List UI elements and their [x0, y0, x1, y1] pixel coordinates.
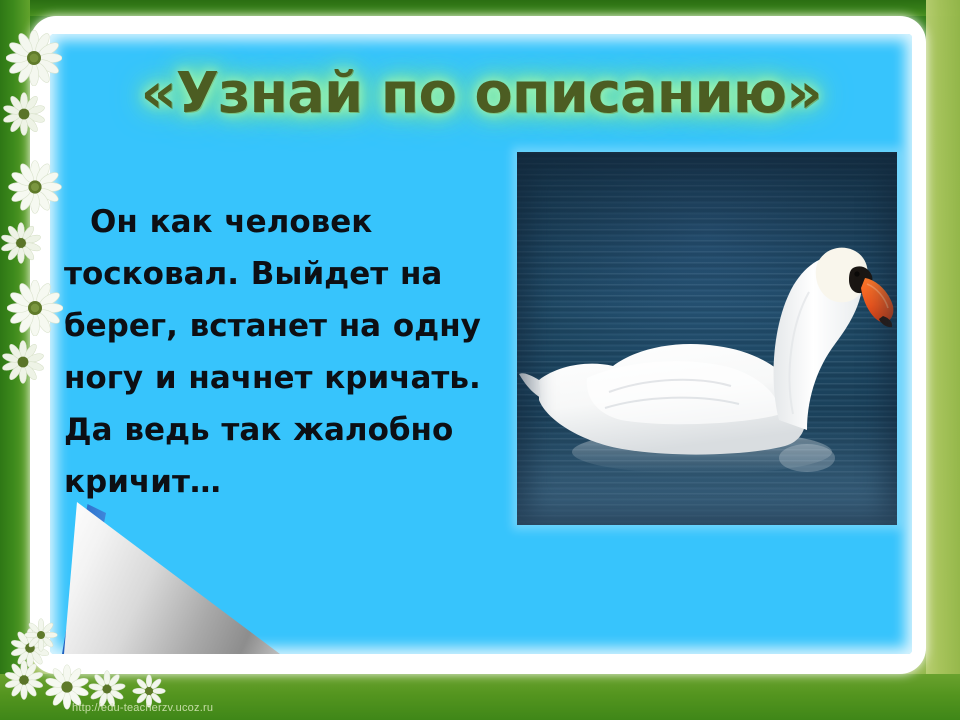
daisy-flower-icon [8, 160, 62, 214]
daisy-flower-icon [0, 222, 42, 264]
daisy-flower-icon [4, 660, 44, 700]
footer-source-url[interactable]: http://edu-teacherzv.ucoz.ru [72, 702, 213, 714]
daisy-flower-icon [7, 280, 63, 336]
page-curl-paper [64, 502, 280, 654]
swan-photo [517, 152, 897, 525]
slide-title: «Узнай по описанию» [50, 62, 912, 126]
daisy-flower-icon [2, 92, 46, 136]
daisy-flower-icon [24, 618, 58, 652]
presentation-slide: «Узнай по описанию» Он как человек тоско… [0, 0, 960, 720]
frame-top-band [0, 0, 960, 16]
slide-body-text: Он как человек тосковал. Выйдет на берег… [64, 196, 519, 508]
page-curl-icon [50, 494, 280, 654]
daisy-flower-icon [6, 30, 62, 86]
swan-illustration [517, 152, 897, 525]
swan-photo-water [517, 152, 897, 525]
daisy-flower-icon [1, 340, 45, 384]
page-curl-backing [62, 504, 106, 654]
slide-content-area: «Узнай по описанию» Он как человек тоско… [50, 34, 912, 654]
frame-right-band [926, 0, 960, 720]
